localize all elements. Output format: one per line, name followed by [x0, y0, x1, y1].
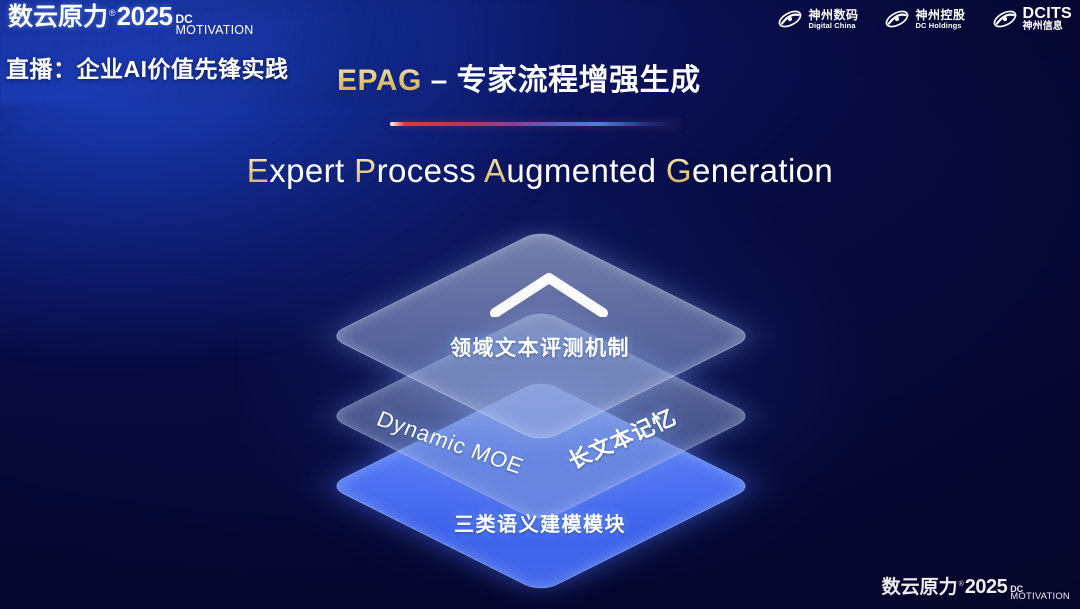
live-session-label: 直播：企业AI价值先锋实践 [6, 50, 289, 84]
event-logo-year: 2025 [117, 3, 173, 29]
footer-watermark-logo: 数云原力 ® 2025 DC MOTIVATION [882, 577, 1070, 603]
subtitle-rest-expert: xpert [269, 152, 354, 189]
brand-dcits-text: DCITS 神州信息 [1023, 6, 1073, 33]
page-title-acronym: EPAG [337, 64, 422, 97]
title-divider [390, 122, 680, 126]
brand-dc-holdings-sub: DC Holdings [915, 22, 965, 30]
event-logo-motivation: MOTIVATION [176, 25, 254, 37]
brand-digital-china: 神州数码 Digital China [777, 8, 858, 30]
brand-dcits-name: DCITS [1023, 6, 1073, 22]
footer-logo-year: 2025 [965, 577, 1008, 597]
event-logo-registered: ® [109, 8, 116, 18]
subtitle-cap-g: G [666, 152, 692, 189]
swirl-logo-icon [777, 8, 803, 30]
page-title-separator: – [422, 64, 457, 97]
subtitle-cap-e: E [247, 152, 269, 189]
brand-dc-holdings-name: 神州控股 [915, 9, 965, 21]
event-logo-dc-motivation: DC MOTIVATION [176, 14, 254, 37]
brand-digital-china-sub: Digital China [808, 22, 858, 30]
subtitle-rest-augmented: ugmented [506, 152, 666, 189]
swirl-logo-icon [992, 8, 1018, 30]
slide-root: 数云原力 ® 2025 DC MOTIVATION 直播：企业AI价值先锋实践 … [0, 0, 1080, 609]
subtitle-rest-process: rocess [377, 152, 484, 189]
brand-dcits-sub: 神州信息 [1023, 22, 1073, 32]
brand-dc-holdings: 神州控股 DC Holdings [884, 8, 965, 30]
partner-brand-bar: 神州数码 Digital China 神州控股 DC Holdings [777, 6, 1072, 33]
footer-logo-motivation: MOTIVATION [1010, 593, 1070, 602]
subtitle: Expert Process Augmented Generation [0, 152, 1080, 190]
subtitle-cap-p: P [354, 152, 376, 189]
page-title: EPAG – 专家流程增强生成 [337, 55, 701, 99]
subtitle-cap-a: A [484, 152, 506, 189]
event-logo-cn: 数云原力 [8, 5, 108, 30]
brand-dcits: DCITS 神州信息 [992, 6, 1073, 33]
page-title-chinese: 专家流程增强生成 [457, 64, 701, 97]
footer-logo-registered: ® [959, 581, 964, 588]
brand-digital-china-name: 神州数码 [808, 9, 858, 21]
event-logo: 数云原力 ® 2025 DC MOTIVATION [8, 3, 253, 39]
subtitle-rest-generation: eneration [692, 152, 833, 189]
footer-logo-dc-motivation: DC MOTIVATION [1010, 585, 1070, 602]
brand-dc-holdings-text: 神州控股 DC Holdings [915, 9, 965, 29]
brand-digital-china-text: 神州数码 Digital China [808, 9, 858, 29]
footer-logo-cn: 数云原力 [882, 578, 958, 597]
swirl-logo-icon [884, 8, 910, 30]
